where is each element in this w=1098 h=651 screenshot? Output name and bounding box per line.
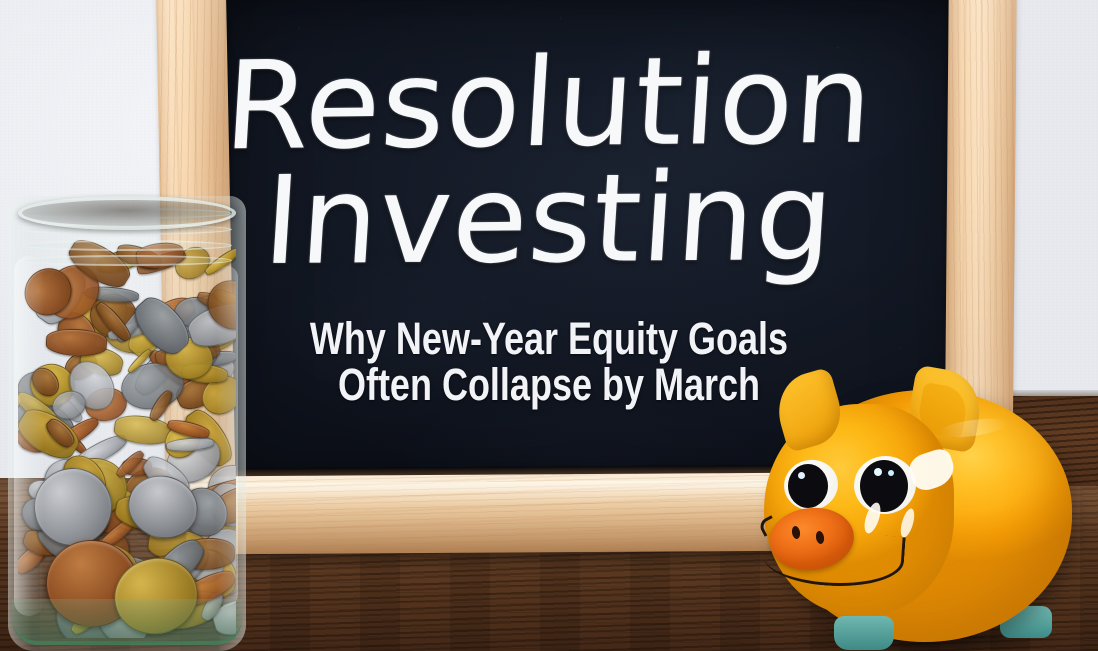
piggy-eye-right-glint-2	[888, 470, 894, 476]
piggy-foot-front	[834, 616, 894, 650]
jar-thread-3	[22, 240, 232, 251]
piggy-eye-right	[860, 460, 908, 512]
jar-highlight-right	[216, 266, 238, 606]
coins-inside-jar	[18, 240, 236, 638]
coin	[45, 328, 107, 358]
piggy-eye-right-glint	[874, 468, 882, 476]
piggy-eye-left-glint	[798, 472, 805, 479]
header-image-scene: Resolution Investing Why New-Year Equity…	[0, 0, 1098, 651]
jar-highlight-left	[14, 256, 44, 616]
piggy-eye-left	[788, 464, 828, 508]
coin-jar	[8, 196, 246, 651]
piggy-bank	[758, 368, 1088, 651]
jar-base	[12, 599, 242, 645]
jar-thread-4	[22, 255, 232, 266]
jar-rim	[18, 196, 236, 230]
